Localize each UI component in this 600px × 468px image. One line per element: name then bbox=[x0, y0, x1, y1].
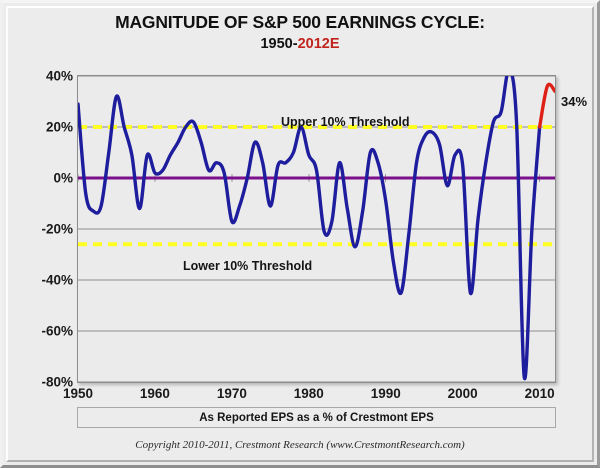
upper-threshold-label: Upper 10% Threshold bbox=[281, 115, 410, 129]
x-tick-label: 1970 bbox=[217, 386, 247, 401]
footnote-text: As Reported EPS as a % of Crestmont EPS bbox=[199, 412, 434, 424]
chart-title-block: MAGNITUDE OF S&P 500 EARNINGS CYCLE: 195… bbox=[3, 12, 597, 52]
y-tick-label: -20% bbox=[11, 222, 73, 237]
copyright-text: Copyright 2010-2011, Crestmont Research … bbox=[3, 439, 597, 451]
x-tick-label: 1960 bbox=[140, 386, 170, 401]
x-tick-label: 2000 bbox=[448, 386, 478, 401]
x-tick-label: 1950 bbox=[63, 386, 93, 401]
footnote-box: As Reported EPS as a % of Crestmont EPS bbox=[77, 407, 556, 428]
page-subtitle: 1950-2012E bbox=[3, 36, 597, 52]
x-tick-label: 1980 bbox=[294, 386, 324, 401]
y-tick-label: 20% bbox=[11, 120, 73, 135]
y-tick-label: 40% bbox=[11, 69, 73, 84]
x-axis: 1950196019701980199020002010 bbox=[77, 386, 556, 406]
chart-page: MAGNITUDE OF S&P 500 EARNINGS CYCLE: 195… bbox=[0, 0, 600, 468]
lower-threshold-label: Lower 10% Threshold bbox=[183, 259, 312, 273]
y-tick-label: 0% bbox=[11, 171, 73, 186]
end-value-label: 34% bbox=[561, 94, 587, 109]
y-axis: 40%20%0%-20%-40%-60%-80% bbox=[7, 75, 73, 383]
x-tick-label: 1990 bbox=[371, 386, 401, 401]
y-tick-label: -40% bbox=[11, 273, 73, 288]
y-tick-label: -60% bbox=[11, 324, 73, 339]
page-title: MAGNITUDE OF S&P 500 EARNINGS CYCLE: bbox=[3, 12, 597, 33]
x-tick-label: 2010 bbox=[525, 386, 555, 401]
subtitle-range-end: 2012E bbox=[298, 36, 340, 52]
subtitle-range-start: 1950- bbox=[260, 36, 297, 52]
